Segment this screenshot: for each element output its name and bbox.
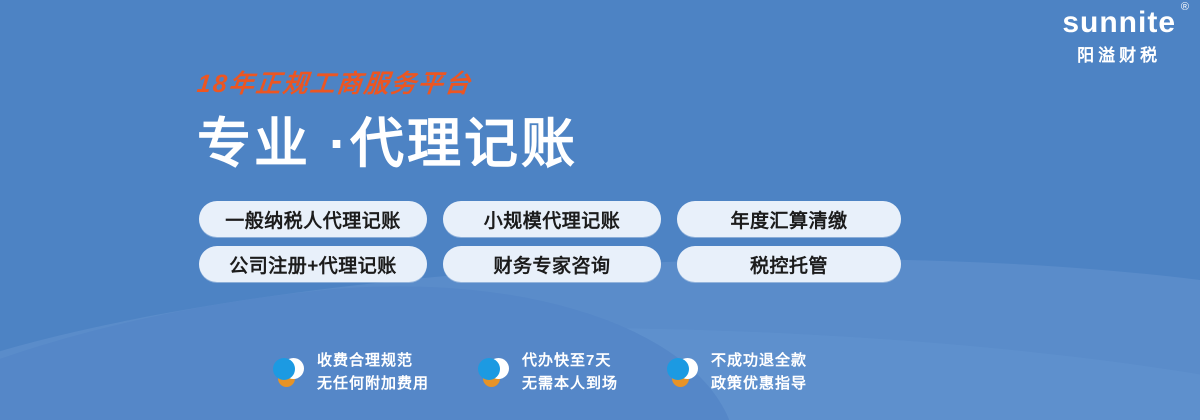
service-pill-row-1: 一般纳税人代理记账 小规模代理记账 年度汇算清缴 (199, 201, 901, 237)
hero-headline-block: 18年正规工商服务平台 专业 ·代理记账 (197, 72, 578, 173)
feature-item: 代办快至7天 无需本人到场 (477, 349, 618, 396)
promo-banner: sunnite ® 阳溢财税 18年正规工商服务平台 专业 ·代理记账 一般纳税… (0, 0, 1200, 420)
brand-logo-chinese-name: 阳溢财税 (1062, 47, 1176, 64)
brand-logo-wordmark: sunnite (1062, 8, 1176, 38)
service-pill-row-2: 公司注册+代理记账 财务专家咨询 税控托管 (199, 246, 901, 282)
registered-trademark-icon: ® (1181, 2, 1189, 13)
feature-line-1: 不成功退全款 (711, 349, 807, 372)
feature-text: 不成功退全款 政策优惠指导 (711, 349, 807, 396)
service-pill[interactable]: 公司注册+代理记账 (199, 246, 427, 282)
service-pill[interactable]: 财务专家咨询 (443, 246, 661, 282)
hero-tagline: 18年正规工商服务平台 (196, 72, 580, 97)
feature-item: 不成功退全款 政策优惠指导 (666, 349, 807, 396)
brand-logo[interactable]: sunnite ® 阳溢财税 (1062, 8, 1176, 64)
feature-strip: 收费合理规范 无任何附加费用 代办快至7天 无需本人到场 不成功退全款 (272, 349, 807, 396)
circles-badge-icon (272, 354, 306, 390)
feature-line-1: 收费合理规范 (317, 349, 429, 372)
feature-line-2: 无需本人到场 (522, 372, 618, 395)
feature-text: 收费合理规范 无任何附加费用 (317, 349, 429, 396)
service-pill[interactable]: 税控托管 (677, 246, 901, 282)
service-pill-grid: 一般纳税人代理记账 小规模代理记账 年度汇算清缴 公司注册+代理记账 财务专家咨… (199, 201, 901, 282)
feature-line-2: 无任何附加费用 (317, 372, 429, 395)
circles-badge-icon (477, 354, 511, 390)
feature-item: 收费合理规范 无任何附加费用 (272, 349, 429, 396)
feature-line-2: 政策优惠指导 (711, 372, 807, 395)
service-pill[interactable]: 年度汇算清缴 (677, 201, 901, 237)
feature-text: 代办快至7天 无需本人到场 (522, 349, 618, 396)
circles-badge-icon (666, 354, 700, 390)
service-pill[interactable]: 小规模代理记账 (443, 201, 661, 237)
service-pill[interactable]: 一般纳税人代理记账 (199, 201, 427, 237)
feature-line-1: 代办快至7天 (522, 349, 618, 372)
hero-title: 专业 ·代理记账 (197, 115, 578, 173)
